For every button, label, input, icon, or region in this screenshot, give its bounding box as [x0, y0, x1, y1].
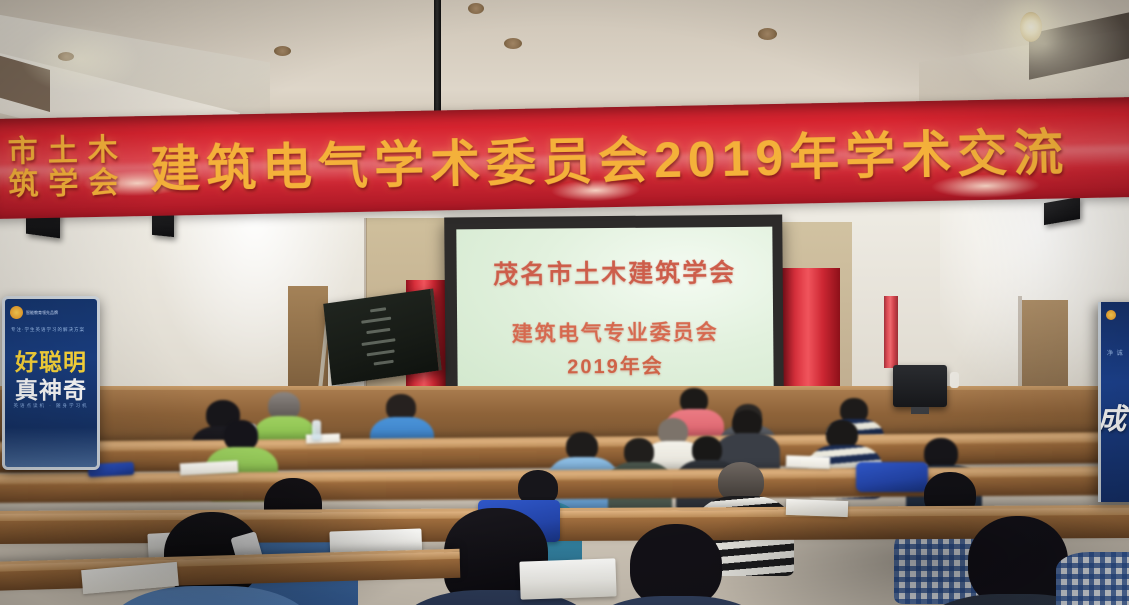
- poster-footnote: 英语点读机 · 随身学习机: [13, 403, 89, 409]
- desk-edge: [0, 508, 1129, 521]
- poster-subtitle: 专注·学生英语学习的解决方案: [11, 327, 85, 333]
- blackboard-writing: [361, 317, 391, 324]
- blackboard-writing: [374, 360, 394, 366]
- blackboard-writing: [370, 307, 386, 312]
- slide-title-line1: 茂名市土木建筑学会: [457, 253, 773, 292]
- blackboard-writing: [362, 338, 396, 346]
- poster-image-area: [5, 427, 97, 467]
- right-standing-poster: 净 诚 成: [1098, 302, 1129, 502]
- head: [968, 516, 1068, 605]
- projection-screen-surface: 茂名市土木建筑学会 建筑电气专业委员会 2019年会: [456, 227, 773, 395]
- conference-hall-photo: 茂名市土木建筑学会 建筑电气专业委员会 2019年会 名市土木 建筑学会 建筑电…: [0, 0, 1129, 605]
- head: [630, 524, 722, 605]
- poster-header: 智能教育领先品牌: [10, 304, 92, 320]
- microphone-icon: [950, 372, 959, 388]
- brand-logo-icon: [1106, 310, 1116, 320]
- gift-box: [519, 558, 616, 599]
- downlight-icon: [504, 38, 522, 49]
- downlight-icon: [758, 28, 777, 40]
- downlight-icon: [274, 46, 291, 56]
- poster-headline: 成: [1098, 396, 1129, 438]
- left-standing-poster: 智能教育领先品牌 专注·学生英语学习的解决方案 好聪明 真神奇 英语点读机 · …: [2, 296, 100, 470]
- projection-screen: 茂名市土木建筑学会 建筑电气专业委员会 2019年会: [444, 215, 784, 403]
- banner-left-text: 名市土木 建筑学会: [0, 133, 129, 202]
- slide-title-line2: 建筑电气专业委员会: [457, 316, 773, 349]
- downlight-icon: [1020, 12, 1042, 42]
- poster-header: [1106, 307, 1129, 323]
- downlight-icon: [468, 3, 484, 14]
- downlight-icon: [58, 52, 74, 61]
- torso: [1056, 552, 1129, 605]
- stage-curtain-right: [782, 268, 840, 400]
- poster-small-text: 净 诚: [1107, 348, 1124, 357]
- paper-on-desk: [786, 455, 830, 469]
- blackboard-writing: [366, 328, 390, 334]
- paper-on-desk: [786, 499, 849, 517]
- blackboard: [323, 288, 441, 385]
- blackboard-writing: [367, 349, 395, 356]
- banner-left-line2: 建筑学会: [0, 166, 129, 202]
- conference-bag: [856, 462, 928, 492]
- brand-logo-icon: [10, 306, 23, 319]
- banner-left-line1: 名市土木: [0, 133, 128, 169]
- poster-logo-text: 智能教育领先品牌: [26, 310, 58, 315]
- stage-monitor: [893, 365, 947, 407]
- slide-title-line3: 2019年会: [457, 349, 773, 381]
- water-bottle: [312, 420, 321, 440]
- paper-on-desk: [306, 433, 340, 443]
- poster-title-line2: 真神奇: [9, 371, 93, 405]
- torso: [584, 596, 770, 605]
- stage-curtain-far-right: [884, 296, 898, 368]
- desk-edge: [0, 552, 460, 574]
